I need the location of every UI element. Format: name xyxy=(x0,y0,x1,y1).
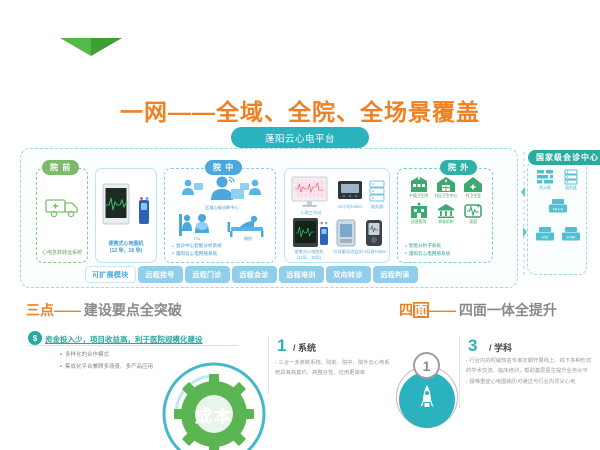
in-hospital-panel: 区域心电诊断中心 ITU 病房 会诊中心智能分析系统 蓬阳云心电网络系统 xyxy=(164,168,276,263)
ward-bed-icon: 病房 xyxy=(227,213,269,241)
cost-card-heading: 资金投入少，项目收益高，利于医院规模化建设 xyxy=(45,334,203,345)
sync-arrows xyxy=(518,150,530,278)
portable-ecg-caption: 便携式心电图机 (12 导、18 导) xyxy=(96,241,156,255)
national-center-item: 服务器 xyxy=(559,169,583,191)
ambulance-icon xyxy=(45,195,81,219)
firewall-icon xyxy=(536,169,554,185)
consultation-center-label: 区域心电诊断中心 xyxy=(205,204,239,211)
stage-badge-pre-hospital: 院 前 xyxy=(42,160,79,175)
module-tab-strip[interactable]: 可扩展模块 远程挂号 远程门诊 远程会诊 远程培训 双向转诊 远程判读 xyxy=(85,266,418,283)
emr-icon: EMR xyxy=(561,226,581,242)
svg-text:EMR: EMR xyxy=(567,235,576,240)
portable-ecg-small-label: 便携式心电图机 (12导、18导) xyxy=(283,249,335,260)
his-icon: HIS xyxy=(535,226,555,242)
hospital-icon xyxy=(409,176,429,193)
facility-item: 养老机构 xyxy=(433,202,458,225)
pre-hospital-caption: 心电急救转运系统 xyxy=(37,250,87,257)
tab-remote-interpretation[interactable]: 远程判读 xyxy=(373,266,418,283)
in-hospital-bullets: 会诊中心智能分析系统 蓬阳云心电网络系统 xyxy=(172,242,271,258)
itu-icon: ITU xyxy=(177,211,217,241)
facility-item: 家庭 xyxy=(461,202,486,225)
holter-3lead-icon xyxy=(364,219,384,247)
tab-remote-registration[interactable]: 远程挂号 xyxy=(138,266,183,283)
column-discipline-category: / 学科 xyxy=(489,341,512,354)
facility-item: 民营医院 xyxy=(406,202,431,225)
national-center-grid: 防火墙 服务器 PACS PACS xyxy=(533,169,583,247)
portable-ecg-panel: 便携式心电图机 (12 导、18 导) xyxy=(95,168,157,263)
gear-label: 成本 xyxy=(158,402,270,427)
cost-gear-graphic: 成本 xyxy=(158,358,270,450)
column-system-body: 三合一多参数系统、院前、院中、院外云心电系统具有高集约、高整合性、应用更简单 xyxy=(275,358,393,379)
rocket-icon xyxy=(420,384,434,418)
home-ecg-icon xyxy=(463,202,483,219)
facility-item: 社区卫生中心 xyxy=(433,176,458,199)
out-hospital-bullets: 智能分析子系统 蓬阳云心电网络系统 xyxy=(405,242,488,258)
national-center-item: 防火墙 xyxy=(533,169,557,191)
ecg-workstation-label: 心电工作站 xyxy=(285,210,337,216)
green-triangle-decoration xyxy=(60,38,122,56)
cost-card-underline xyxy=(28,345,238,346)
equipment-panel: 心电工作站 24小时Holter 服务器 xyxy=(284,168,390,263)
server-icon xyxy=(564,169,578,185)
column-divider-left xyxy=(268,336,269,394)
stage-badge-in-hospital: 院 中 xyxy=(205,160,242,175)
national-center-panel: 防火墙 服务器 PACS PACS xyxy=(527,160,587,275)
holter-24h-label: 24小时Holter xyxy=(333,204,367,210)
portable-ecg-small-icon xyxy=(292,217,330,248)
section-heading-three-points: 三点—— 建设要点全突破 xyxy=(26,300,182,320)
clinic-icon xyxy=(436,176,456,193)
rocket-step-badge: 1 xyxy=(413,352,440,379)
national-center-item: EMR EMR xyxy=(559,226,583,247)
tab-two-way-referral[interactable]: 双向转诊 xyxy=(326,266,371,283)
section-heading-four-aspects: 四面—— 四面一体全提升 xyxy=(399,300,557,320)
rocket-graphic: 1 xyxy=(396,352,458,450)
slide-root: 一网——全域、全院、全场景覆盖 蓬阳云心电平台 院 前 心电急救转运系统 xyxy=(0,0,600,450)
money-icon: $ xyxy=(28,331,42,345)
national-center-item: HIS HIS xyxy=(533,226,557,247)
stage-badge-national-center: 国家级会诊中心 xyxy=(528,150,600,165)
facility-item: 村卫生室 xyxy=(461,176,486,199)
wearable-monitor-icon xyxy=(335,219,357,247)
page-title: 一网——全域、全院、全场景覆盖 xyxy=(0,93,600,127)
svg-text:病房: 病房 xyxy=(244,235,252,241)
pre-hospital-panel: 心电急救转运系统 xyxy=(36,168,88,263)
consultation-center-icon: 区域心电诊断中心 xyxy=(179,175,265,213)
ecg-tablet-icon xyxy=(102,183,136,227)
cost-card-bullets: 多样化的合作模式 集成化平台兼顾多场景、多产品应用 xyxy=(60,350,153,373)
ecg-transmitter-icon xyxy=(136,196,152,226)
tab-remote-outpatient[interactable]: 远程门诊 xyxy=(185,266,230,283)
pacs-icon: PACS xyxy=(548,198,568,214)
national-center-item: PACS PACS xyxy=(533,198,583,219)
server-small-icon xyxy=(369,180,385,202)
facility-grid: 乡镇卫生院 社区卫生中心 村卫生室 xyxy=(406,176,486,225)
holter-3lead-label: 3导联Holter xyxy=(359,249,391,255)
column-system-category: / 系统 xyxy=(293,341,316,354)
column-discipline-body: 行业内的权威知名专家定期开展线上、线下多种形式的学术交流、临床培训，帮助基层医生… xyxy=(466,356,592,387)
facility-item: 乡镇卫生院 xyxy=(406,176,431,199)
platform-label: 蓬阳云心电平台 xyxy=(231,127,369,148)
column-divider-right xyxy=(459,336,460,408)
elderly-care-icon xyxy=(436,202,456,219)
house-cross-icon xyxy=(463,176,483,193)
holter-24h-icon xyxy=(337,180,363,202)
private-hospital-icon xyxy=(409,202,429,219)
tab-expandable-modules[interactable]: 可扩展模块 xyxy=(85,266,136,283)
column-system-number: 1 xyxy=(277,336,286,356)
tab-remote-consultation[interactable]: 远程会诊 xyxy=(232,266,277,283)
svg-text:PACS: PACS xyxy=(553,207,564,212)
stage-badge-out-hospital: 院 外 xyxy=(440,160,477,175)
ecg-workstation-icon xyxy=(291,176,331,209)
out-hospital-panel: 乡镇卫生院 社区卫生中心 村卫生室 xyxy=(397,168,493,263)
column-discipline-number: 3 xyxy=(468,336,477,356)
server-small-label: 服务器 xyxy=(365,204,389,210)
tab-remote-training[interactable]: 远程培训 xyxy=(279,266,324,283)
svg-text:ITU: ITU xyxy=(194,236,201,241)
svg-text:HIS: HIS xyxy=(542,235,549,240)
